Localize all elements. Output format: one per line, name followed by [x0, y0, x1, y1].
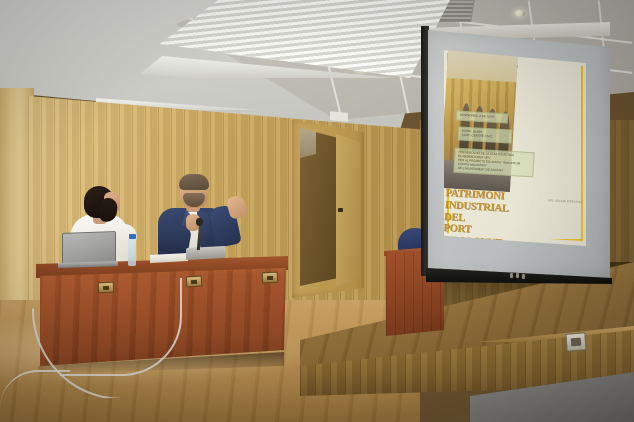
- table-latch: [262, 272, 279, 284]
- table-latch: [186, 276, 203, 288]
- door-handle-icon[interactable]: [338, 208, 343, 212]
- bottle-cap[interactable]: [129, 234, 136, 239]
- downlight-icon: [514, 10, 525, 17]
- microphone-base[interactable]: [186, 246, 226, 260]
- rail-fitting: [330, 111, 348, 122]
- water-bottle[interactable]: [128, 238, 136, 266]
- conference-room-photo: PRESENTACIÓ QUADERNS DIDÀCTICS "SAGUNTUM…: [0, 0, 634, 422]
- slide-description-box: PRESENTACIÓ DE LA GUIA DIDÀCTICA ELABORA…: [453, 148, 534, 178]
- doorway-light: [300, 128, 316, 158]
- door-leaf[interactable]: [336, 128, 360, 286]
- screen-side-frame: [421, 26, 429, 276]
- speaker-hair: [179, 174, 209, 190]
- wall-outlet-icon[interactable]: [565, 332, 586, 351]
- microphone-head-icon[interactable]: [196, 218, 203, 226]
- projected-slide: PRESENTACIÓ QUADERNS DIDÀCTICS "SAGUNTUM…: [444, 50, 586, 246]
